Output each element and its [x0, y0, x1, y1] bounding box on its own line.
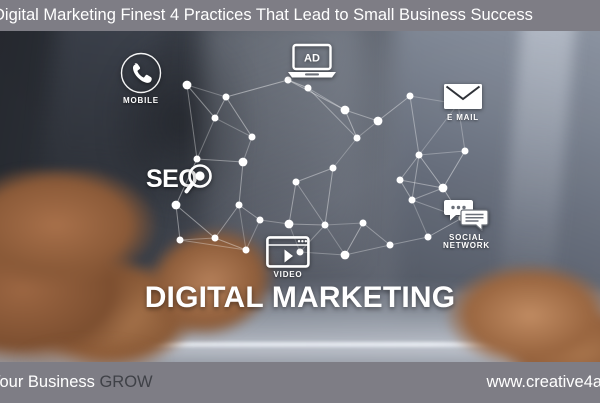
video-player-icon — [266, 236, 310, 268]
network-node — [223, 94, 230, 101]
network-node — [243, 247, 250, 254]
chat-bubbles-icon — [443, 198, 489, 231]
laptop-ad-text: AD — [304, 53, 320, 65]
network-node — [285, 220, 294, 229]
icon-video: VIDEO — [266, 236, 310, 279]
footer-tagline-prefix: Your Business — [0, 373, 99, 391]
page-title: Digital Marketing Finest 4 Practices Tha… — [0, 6, 533, 25]
laptop-icon: AD — [285, 42, 339, 82]
hero-headline: DIGITAL MARKETING — [0, 281, 600, 315]
network-node — [257, 217, 264, 224]
network-node — [354, 135, 361, 142]
network-node — [322, 222, 329, 229]
network-node — [397, 177, 404, 184]
network-node — [439, 184, 448, 193]
network-node — [387, 242, 394, 249]
network-node — [360, 220, 367, 227]
footer-tagline: Your Business GROW — [0, 373, 153, 392]
icon-seo: SEO — [146, 162, 218, 196]
envelope-icon — [443, 82, 483, 111]
bottom-footer-banner: Your Business GROW www.creative4all. — [0, 362, 600, 403]
icon-mobile: MOBILE — [120, 52, 162, 105]
network-node — [425, 234, 432, 241]
icon-mobile-label: MOBILE — [123, 97, 159, 105]
icon-video-label: VIDEO — [274, 271, 303, 279]
network-node — [212, 235, 219, 242]
network-node — [239, 158, 248, 167]
network-node — [407, 93, 414, 100]
network-node — [212, 115, 219, 122]
network-node — [462, 148, 469, 155]
footer-tagline-emphasis: GROW — [99, 373, 152, 391]
phone-handset-icon — [120, 52, 162, 94]
network-node — [409, 197, 416, 204]
network-node — [341, 106, 350, 115]
network-node — [236, 202, 243, 209]
icon-social-label-line2: NETWORK — [443, 242, 490, 250]
network-node — [330, 165, 337, 172]
network-node — [341, 251, 350, 260]
network-node — [374, 117, 383, 126]
magnifier-icon — [184, 162, 218, 196]
network-node — [177, 237, 184, 244]
marketing-poster: MOBILE AD E MAIL SEO — [0, 0, 600, 403]
network-node — [293, 179, 300, 186]
icon-email-label: E MAIL — [447, 114, 479, 122]
network-node — [249, 134, 256, 141]
top-title-banner: Digital Marketing Finest 4 Practices Tha… — [0, 0, 600, 31]
footer-website-url[interactable]: www.creative4all. — [487, 373, 600, 392]
network-node — [172, 201, 181, 210]
network-node — [416, 152, 423, 159]
network-edges — [176, 80, 465, 255]
network-node — [183, 81, 192, 90]
icon-social-network: SOCIAL NETWORK — [443, 198, 490, 251]
icon-email: E MAIL — [443, 82, 483, 122]
icon-ad: AD — [285, 42, 339, 82]
network-node — [305, 85, 312, 92]
